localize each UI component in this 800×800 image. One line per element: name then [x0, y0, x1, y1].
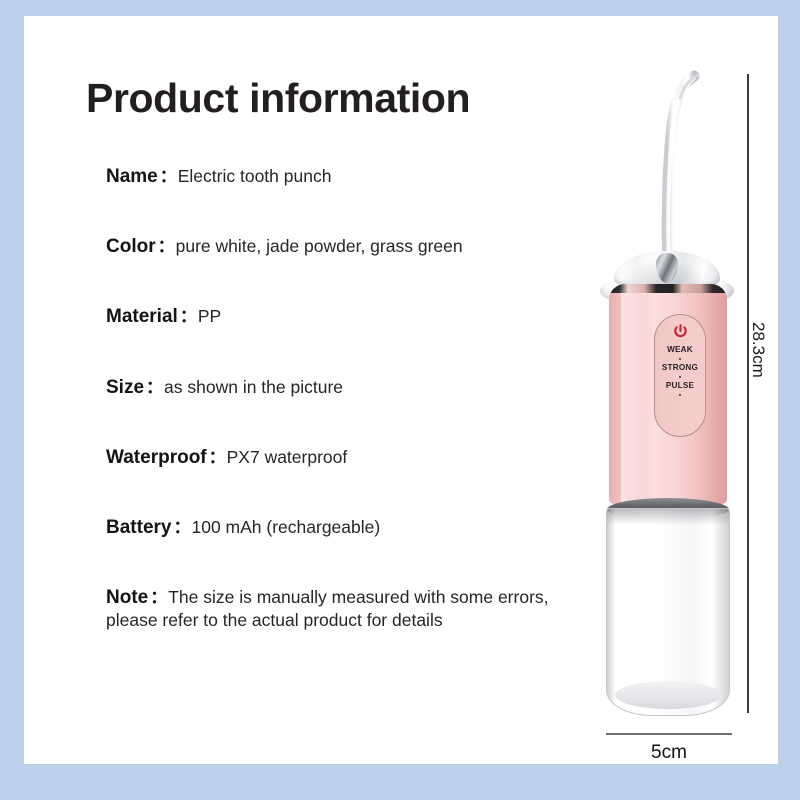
spec-label-note: Note — [106, 587, 148, 608]
spec-value-color: pure white, jade powder, grass green — [176, 236, 463, 256]
power-icon[interactable] — [672, 323, 689, 340]
spec-label-name: Name — [106, 166, 158, 187]
spec-row-name: Name：Electric tooth punch — [106, 165, 554, 188]
mode-indicator-strong — [679, 376, 682, 379]
spec-label-color: Color — [106, 236, 156, 257]
mode-indicator-pulse — [679, 394, 682, 397]
product-spec-panel: Product information Name：Electric tooth … — [84, 78, 554, 632]
mode-label-pulse[interactable]: PULSE — [655, 382, 705, 390]
spec-separator: ： — [156, 237, 176, 256]
spec-value-note: The size is manually measured with some … — [106, 587, 549, 630]
spec-row-battery: Battery：100 mAh (rechargeable) — [106, 516, 554, 539]
spec-value-battery: 100 mAh (rechargeable) — [191, 517, 380, 537]
mode-label-weak[interactable]: WEAK — [655, 346, 705, 354]
content-canvas: Product information Name：Electric tooth … — [24, 16, 778, 764]
page-title: Product information — [86, 78, 554, 119]
spec-row-size: Size：as shown in the picture — [106, 376, 554, 399]
spec-row-color: Color：pure white, jade powder, grass gre… — [106, 235, 554, 258]
water-tank — [606, 508, 730, 716]
spec-separator: ： — [144, 378, 164, 397]
control-panel[interactable]: WEAK STRONG PULSE — [654, 314, 706, 437]
height-dimension-label: 28.3cm — [748, 322, 768, 412]
tank-base — [615, 681, 721, 709]
mode-label-strong[interactable]: STRONG — [655, 364, 705, 372]
mode-indicator-weak — [679, 358, 682, 361]
spec-value-size: as shown in the picture — [164, 377, 343, 397]
width-dimension-line — [606, 733, 732, 735]
nozzle-icon — [624, 64, 714, 274]
spec-value-waterproof: PX7 waterproof — [227, 447, 348, 467]
spec-label-size: Size — [106, 377, 144, 398]
spec-row-waterproof: Waterproof：PX7 waterproof — [106, 446, 554, 469]
tank-top-edge — [607, 509, 729, 525]
spec-row-material: Material：PP — [106, 305, 554, 328]
width-dimension-label: 5cm — [606, 742, 732, 764]
spec-separator: ： — [158, 167, 178, 186]
spec-separator: ： — [207, 448, 227, 467]
product-image: WEAK STRONG PULSE 28.3cm 5cm — [564, 36, 800, 776]
spec-row-note: Note：The size is manually measured with … — [106, 586, 554, 632]
spec-separator: ： — [178, 307, 198, 326]
spec-label-battery: Battery — [106, 517, 171, 538]
spec-value-material: PP — [198, 306, 221, 326]
spec-separator: ： — [171, 518, 191, 537]
spec-label-material: Material — [106, 306, 178, 327]
spec-label-waterproof: Waterproof — [106, 447, 207, 468]
spec-value-name: Electric tooth punch — [178, 166, 332, 186]
handle-highlight — [621, 293, 647, 504]
handle-top-band — [609, 284, 727, 293]
spec-separator: ： — [148, 588, 168, 607]
image-frame: Product information Name：Electric tooth … — [0, 0, 800, 800]
